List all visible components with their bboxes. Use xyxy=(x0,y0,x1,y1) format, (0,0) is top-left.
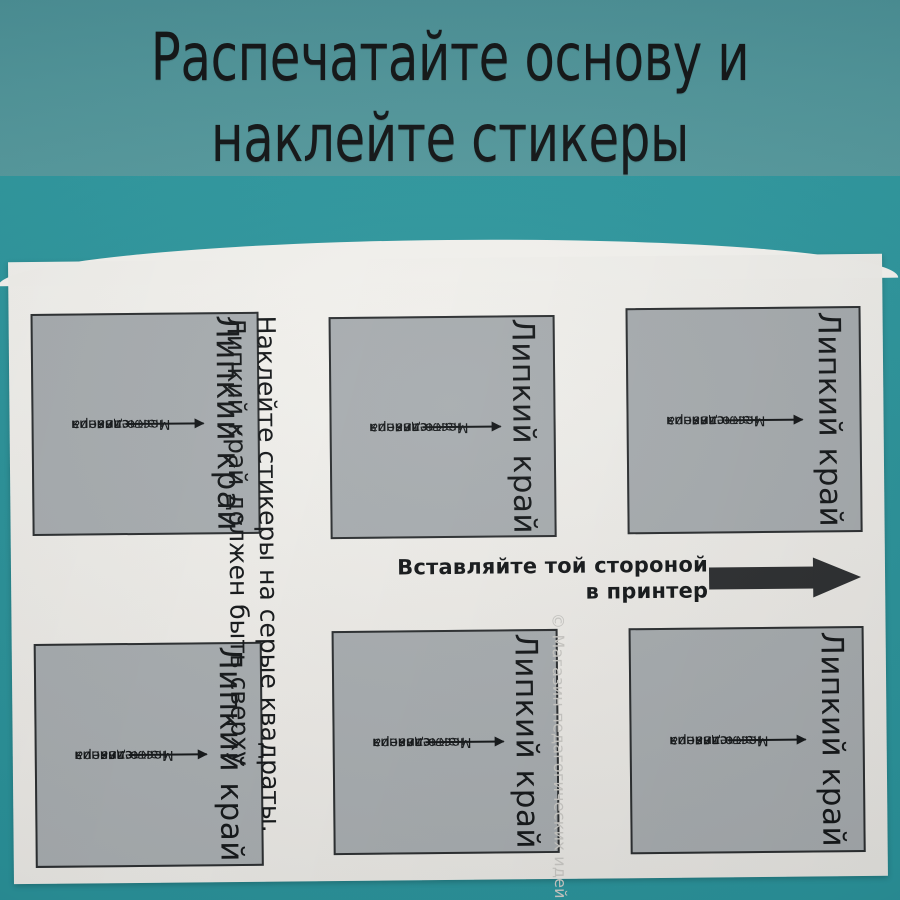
card-bottom-center[interactable]: Место для наклеивания стикера Липкий кра… xyxy=(332,629,560,855)
arrow-head xyxy=(813,557,861,597)
card-content: Место для наклеивания стикера Липкий кра… xyxy=(331,317,555,537)
place-label-line-3: стикера xyxy=(666,412,724,429)
thin-right-arrow-icon xyxy=(727,739,805,742)
page-title: Распечатайте основу и наклейте стикеры xyxy=(72,24,828,173)
place-label-line-3: стикера xyxy=(372,734,430,751)
sticky-edge-label: Липкий край xyxy=(805,308,855,530)
page-title-line-1: Распечатайте основу и xyxy=(72,24,828,93)
card-content: Место для наклеивания стикера Липкий кра… xyxy=(334,631,558,853)
sticky-edge-label: Липкий край xyxy=(808,628,858,850)
thin-right-arrow-icon xyxy=(129,753,207,756)
watermark: © Магазин педагогических идей xyxy=(543,613,569,871)
card-top-right[interactable]: Место для наклеивания стикера Липкий кра… xyxy=(625,306,862,534)
place-label-line-3: стикера xyxy=(71,416,129,433)
printer-note-line-2: в принтер xyxy=(363,578,708,608)
card-content: Место для наклеивания стикера Липкий кра… xyxy=(631,628,864,852)
thin-right-arrow-icon xyxy=(426,740,504,743)
vertical-instruction-line-2: Липкий край должен быть сверху xyxy=(222,316,256,836)
printer-direction-note: Вставляйте той стороной в принтер xyxy=(363,551,708,607)
thick-right-arrow-icon xyxy=(709,557,861,598)
vertical-instruction: Наклейте стикеры на серые квадраты. Липк… xyxy=(211,316,286,837)
card-top-center[interactable]: Место для наклеивания стикера Липкий кра… xyxy=(329,315,557,539)
screenshot-stage: Распечатайте основу и наклейте стикеры М… xyxy=(0,0,900,900)
sticky-edge-label: Липкий край xyxy=(499,317,549,535)
arrow-shaft xyxy=(709,566,817,589)
place-label-line-3: стикера xyxy=(369,419,427,436)
page-title-line-2: наклейте стикеры xyxy=(72,105,828,174)
place-label-line-3: стикера xyxy=(669,732,727,749)
thin-right-arrow-icon xyxy=(724,419,802,422)
thin-right-arrow-icon xyxy=(423,425,501,428)
card-content: Место для наклеивания стикера Липкий кра… xyxy=(628,308,861,532)
place-label-line-3: стикера xyxy=(75,747,133,764)
printed-sheet: Место для наклеивания стикера Липкий кра… xyxy=(8,254,888,884)
printer-note-line-1: Вставляйте той стороной xyxy=(363,551,708,581)
card-bottom-right[interactable]: Место для наклеивания стикера Липкий кра… xyxy=(629,626,866,854)
vertical-instruction-line-1: Наклейте стикеры на серые квадраты. xyxy=(251,316,285,836)
thin-right-arrow-icon xyxy=(126,422,204,425)
